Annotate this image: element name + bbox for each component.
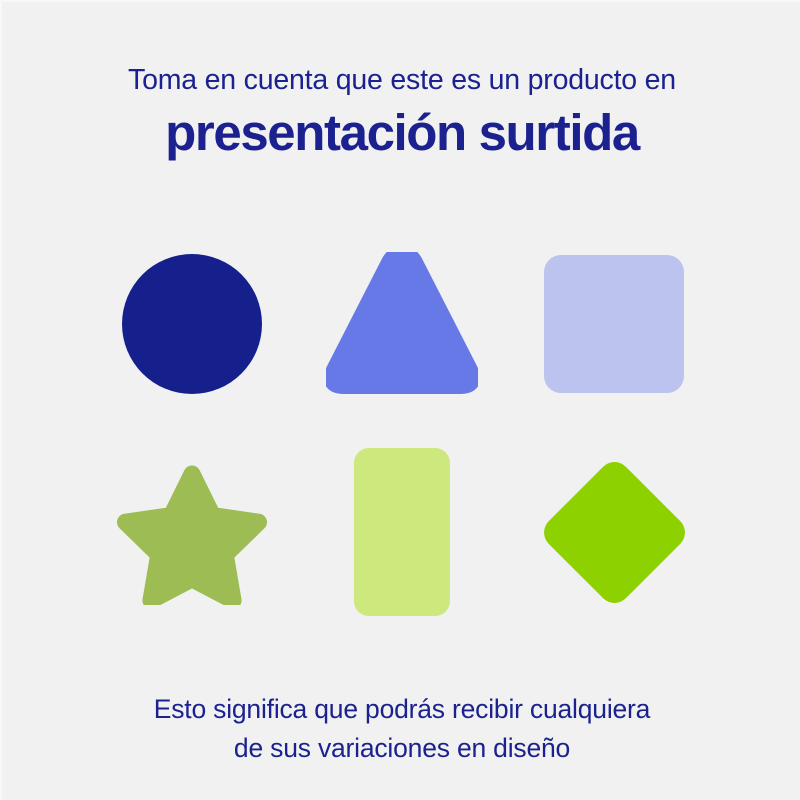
shape-cell-circle [92,229,292,419]
shape-cell-triangle [302,229,502,419]
triangle-shape-icon [326,252,478,397]
product-variation-notice-poster: Toma en cuenta que este es un producto e… [0,0,800,800]
circle-shape-icon [122,254,262,394]
footer-text: Esto significa que podrás recibir cualqu… [2,690,800,768]
footer-line-1: Esto significa que podrás recibir cualqu… [2,690,800,729]
shape-cell-star [92,437,292,627]
square-shape-icon [544,255,684,393]
headline-line-2: presentación surtida [2,102,800,164]
star-shape-icon [116,460,268,605]
rectangle-shape-icon [354,448,450,616]
shape-cell-square [514,229,714,419]
footer-line-2: de sus variaciones en diseño [2,729,800,768]
headline: Toma en cuenta que este es un producto e… [2,60,800,164]
shape-grid [2,212,800,642]
shape-cell-rectangle [302,437,502,627]
shape-cell-diamond [514,437,714,627]
headline-line-1: Toma en cuenta que este es un producto e… [2,60,800,100]
diamond-shape-icon [537,455,691,609]
